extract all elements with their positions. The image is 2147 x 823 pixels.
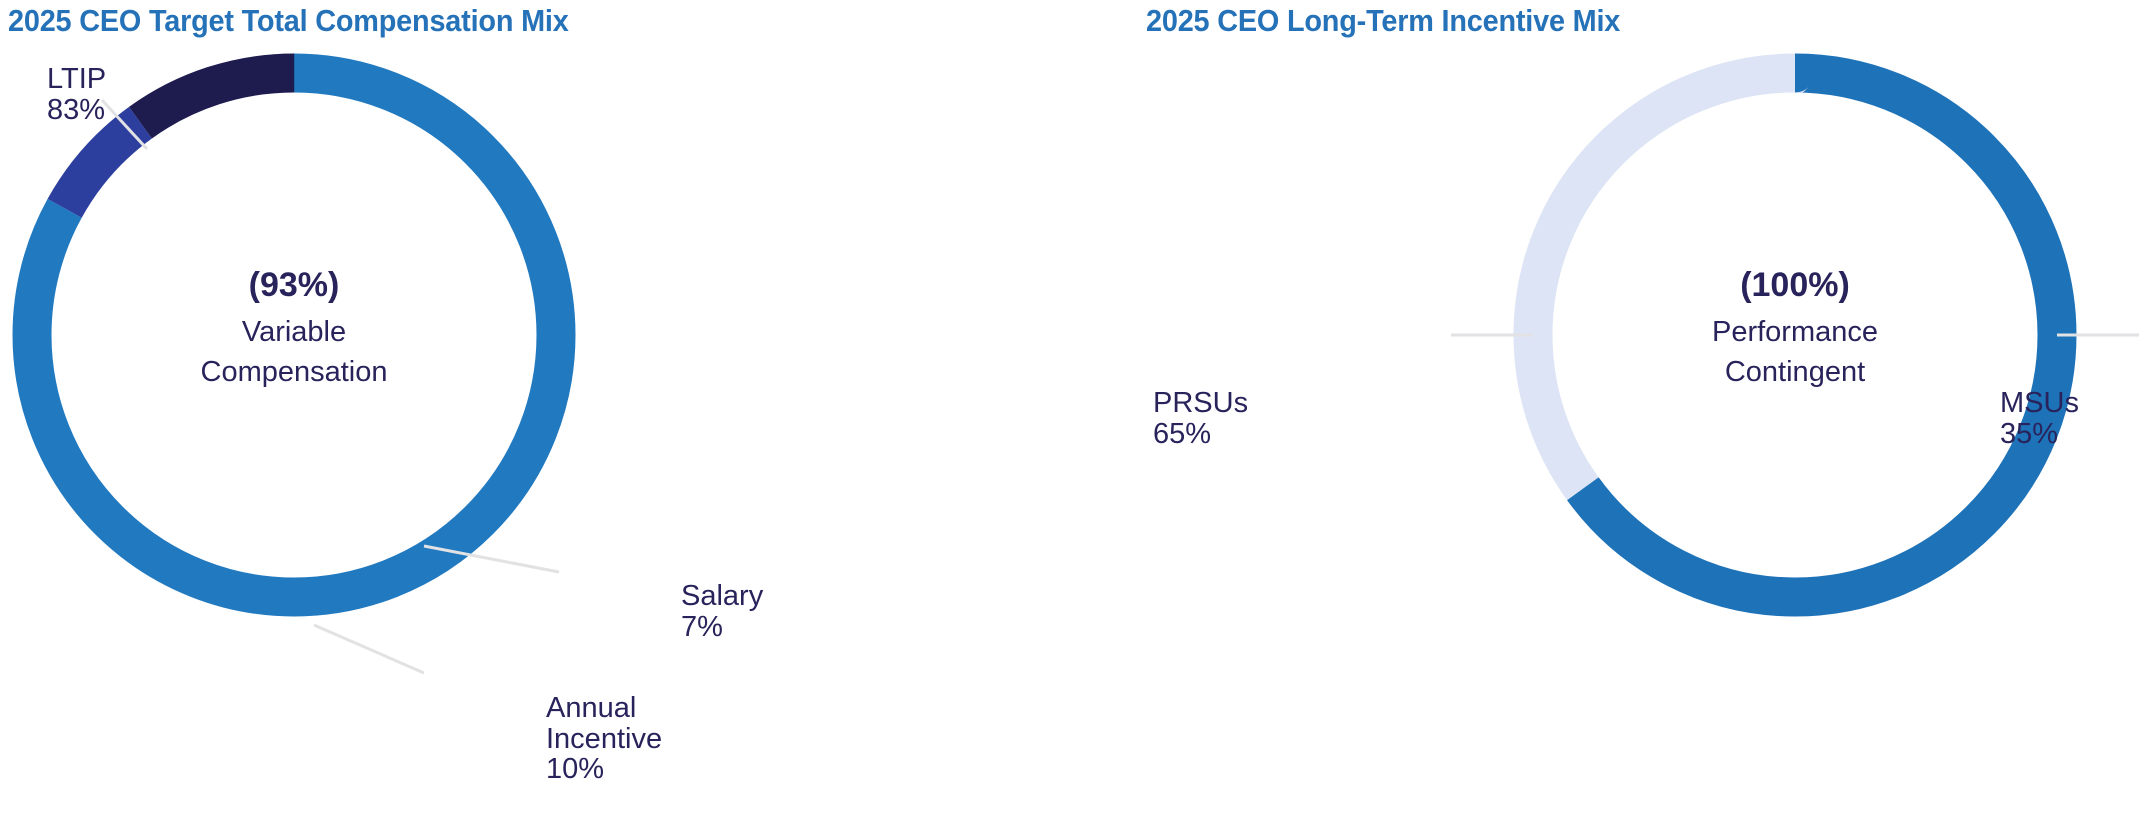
donut-chart-long-term-incentive: (100%) Performance Contingent (1511, 48, 2121, 658)
callout-label-annual-incentive: Annual Incentive 10% (546, 693, 662, 785)
center-value-left: (93%) (249, 266, 340, 304)
donut-chart-target-total-compensation: (93%) Variable Compensation (0, 48, 609, 658)
callout-label-ltip: LTIP 83% (47, 64, 106, 125)
leader-line-annual-incentive (314, 625, 424, 673)
center-value-right: (100%) (1740, 266, 1850, 304)
page-title-long-term-incentive-mix: 2025 CEO Long-Term Incentive Mix (1146, 3, 1620, 39)
page-title-target-total-compensation-mix: 2025 CEO Target Total Compensation Mix (8, 3, 569, 39)
center-sublabel-left-line1: Variable (242, 316, 346, 348)
callout-label-salary: Salary 7% (681, 581, 763, 642)
donut-svg-right: (100%) Performance Contingent (1511, 48, 2121, 658)
center-sublabel-right-line2: Contingent (1725, 356, 1865, 388)
callout-label-msus: MSUs 35% (2000, 388, 2079, 449)
center-sublabel-left-line2: Compensation (201, 356, 388, 388)
callout-label-prsus: PRSUs 65% (1153, 388, 1248, 449)
donut-svg-left: (93%) Variable Compensation (0, 48, 609, 658)
center-sublabel-right-line1: Performance (1712, 316, 1878, 348)
chart-panel-long-term-incentive: 2025 CEO Long-Term Incentive Mix (100%) … (1140, 0, 2147, 823)
chart-panel-target-total-compensation: 2025 CEO Target Total Compensation Mix (… (0, 0, 1140, 823)
